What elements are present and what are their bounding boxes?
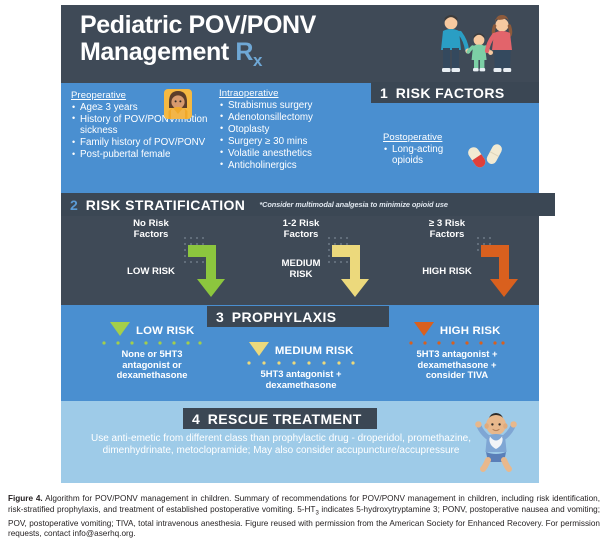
family-illustration-icon bbox=[433, 14, 525, 76]
prophylaxis-low-title: LOW RISK bbox=[136, 325, 195, 337]
section-3-banner: 3 PROPHYLAXIS bbox=[207, 306, 389, 327]
list-item: Surgery ≥ 30 mins bbox=[219, 136, 354, 147]
prophylaxis-column-medium: MEDIUM RISK 5HT3 antagonist + dexamethas… bbox=[213, 341, 389, 390]
section-risk-stratification: 2 RISK STRATIFICATION *Consider multimod… bbox=[61, 193, 539, 305]
list-item: Long-acting opioids bbox=[383, 144, 475, 167]
rx-symbol: Rx bbox=[235, 38, 262, 66]
page-title: Pediatric POV/PONV Management Rx bbox=[80, 12, 400, 74]
section-1-title: RISK FACTORS bbox=[396, 85, 505, 101]
prophylaxis-high-title: HIGH RISK bbox=[440, 325, 501, 337]
figure-caption: Figure 4. Algorithm for POV/PONV managem… bbox=[8, 494, 600, 540]
section-4-banner: 4 RESCUE TREATMENT bbox=[183, 408, 377, 429]
list-item: Post-pubertal female bbox=[71, 149, 211, 160]
multimodal-analgesia-note: *Consider multimodal analgesia to minimi… bbox=[259, 200, 448, 209]
list-item: Otoplasty bbox=[219, 124, 354, 135]
pills-capsule-icon bbox=[465, 139, 507, 169]
baby-illustration-icon bbox=[475, 410, 517, 472]
postoperative-column: Postoperative Long-acting opioids bbox=[383, 132, 475, 167]
section-rescue-treatment: 4 RESCUE TREATMENT Use anti-emetic from … bbox=[61, 401, 539, 483]
medium-risk-triangle-icon bbox=[248, 341, 270, 357]
section-4-number: 4 bbox=[188, 411, 208, 427]
title-line-2: Management bbox=[80, 38, 229, 66]
postoperative-heading: Postoperative bbox=[383, 132, 475, 143]
infographic-header: Pediatric POV/PONV Management Rx bbox=[61, 5, 539, 83]
high-risk-triangle-icon bbox=[413, 321, 435, 337]
section-2-banner: 2 RISK STRATIFICATION *Consider multimod… bbox=[61, 193, 555, 216]
infographic-page: Pediatric POV/PONV Management Rx bbox=[0, 0, 607, 551]
prophylaxis-medium-title: MEDIUM RISK bbox=[275, 345, 354, 357]
prophylaxis-medium-body: 5HT3 antagonist + dexamethasone bbox=[213, 369, 389, 390]
section-2-number: 2 bbox=[66, 197, 86, 213]
low-dotted-divider-icon bbox=[100, 341, 204, 345]
title-line-1: Pediatric POV/PONV bbox=[80, 11, 316, 39]
prophylaxis-low-header: LOW RISK bbox=[77, 321, 227, 339]
prophylaxis-high-header: HIGH RISK bbox=[379, 321, 535, 339]
list-item: Anticholinergics bbox=[219, 160, 354, 171]
list-item: Strabismus surgery bbox=[219, 100, 354, 111]
section-2-title: RISK STRATIFICATION bbox=[86, 197, 246, 213]
prophylaxis-column-low: LOW RISK None or 5HT3 antagonist or dexa… bbox=[77, 321, 227, 381]
prophylaxis-high-body: 5HT3 antagonist + dexamethasone + consid… bbox=[379, 349, 535, 381]
intraoperative-column: Intraoperative Strabismus surgery Adenot… bbox=[219, 88, 354, 171]
low-risk-arrow-icon bbox=[182, 235, 240, 301]
section-3-title: PROPHYLAXIS bbox=[232, 309, 337, 325]
section-risk-factors: 1 RISK FACTORS Preoperative Age≥ 3 years… bbox=[61, 83, 539, 193]
risk-stratification-columns: No Risk Factors LOW RISK 1-2 Risk F bbox=[61, 219, 539, 305]
high-dotted-divider-icon bbox=[407, 341, 507, 345]
list-item: Family history of POV/PONV bbox=[71, 137, 211, 148]
postoperative-list: Long-acting opioids bbox=[383, 144, 475, 167]
list-item: Volatile anesthetics bbox=[219, 148, 354, 159]
rescue-treatment-body: Use anti-emetic from different class tha… bbox=[91, 433, 471, 458]
section-1-banner: 1 RISK FACTORS bbox=[371, 82, 539, 103]
section-prophylaxis: 3 PROPHYLAXIS LOW RISK None or 5HT3 anta… bbox=[61, 305, 539, 401]
intraoperative-list: Strabismus surgery Adenotonsillectomy Ot… bbox=[219, 100, 354, 171]
list-item: Adenotonsillectomy bbox=[219, 112, 354, 123]
prophylaxis-low-body: None or 5HT3 antagonist or dexamethasone bbox=[77, 349, 227, 381]
infographic-frame: Pediatric POV/PONV Management Rx bbox=[61, 5, 539, 483]
high-risk-arrow-icon bbox=[475, 235, 533, 301]
section-1-number: 1 bbox=[376, 85, 396, 101]
low-risk-triangle-icon bbox=[109, 321, 131, 337]
prophylaxis-medium-header: MEDIUM RISK bbox=[213, 341, 389, 359]
section-4-title: RESCUE TREATMENT bbox=[208, 411, 362, 427]
girl-avatar-icon bbox=[164, 89, 192, 119]
medium-dotted-divider-icon bbox=[245, 361, 357, 365]
caption-label: Figure 4. bbox=[8, 494, 43, 503]
medium-risk-arrow-icon bbox=[326, 235, 384, 301]
prophylaxis-column-high: HIGH RISK 5HT3 antagonist + dexamethason… bbox=[379, 321, 535, 381]
intraoperative-heading: Intraoperative bbox=[219, 88, 354, 99]
